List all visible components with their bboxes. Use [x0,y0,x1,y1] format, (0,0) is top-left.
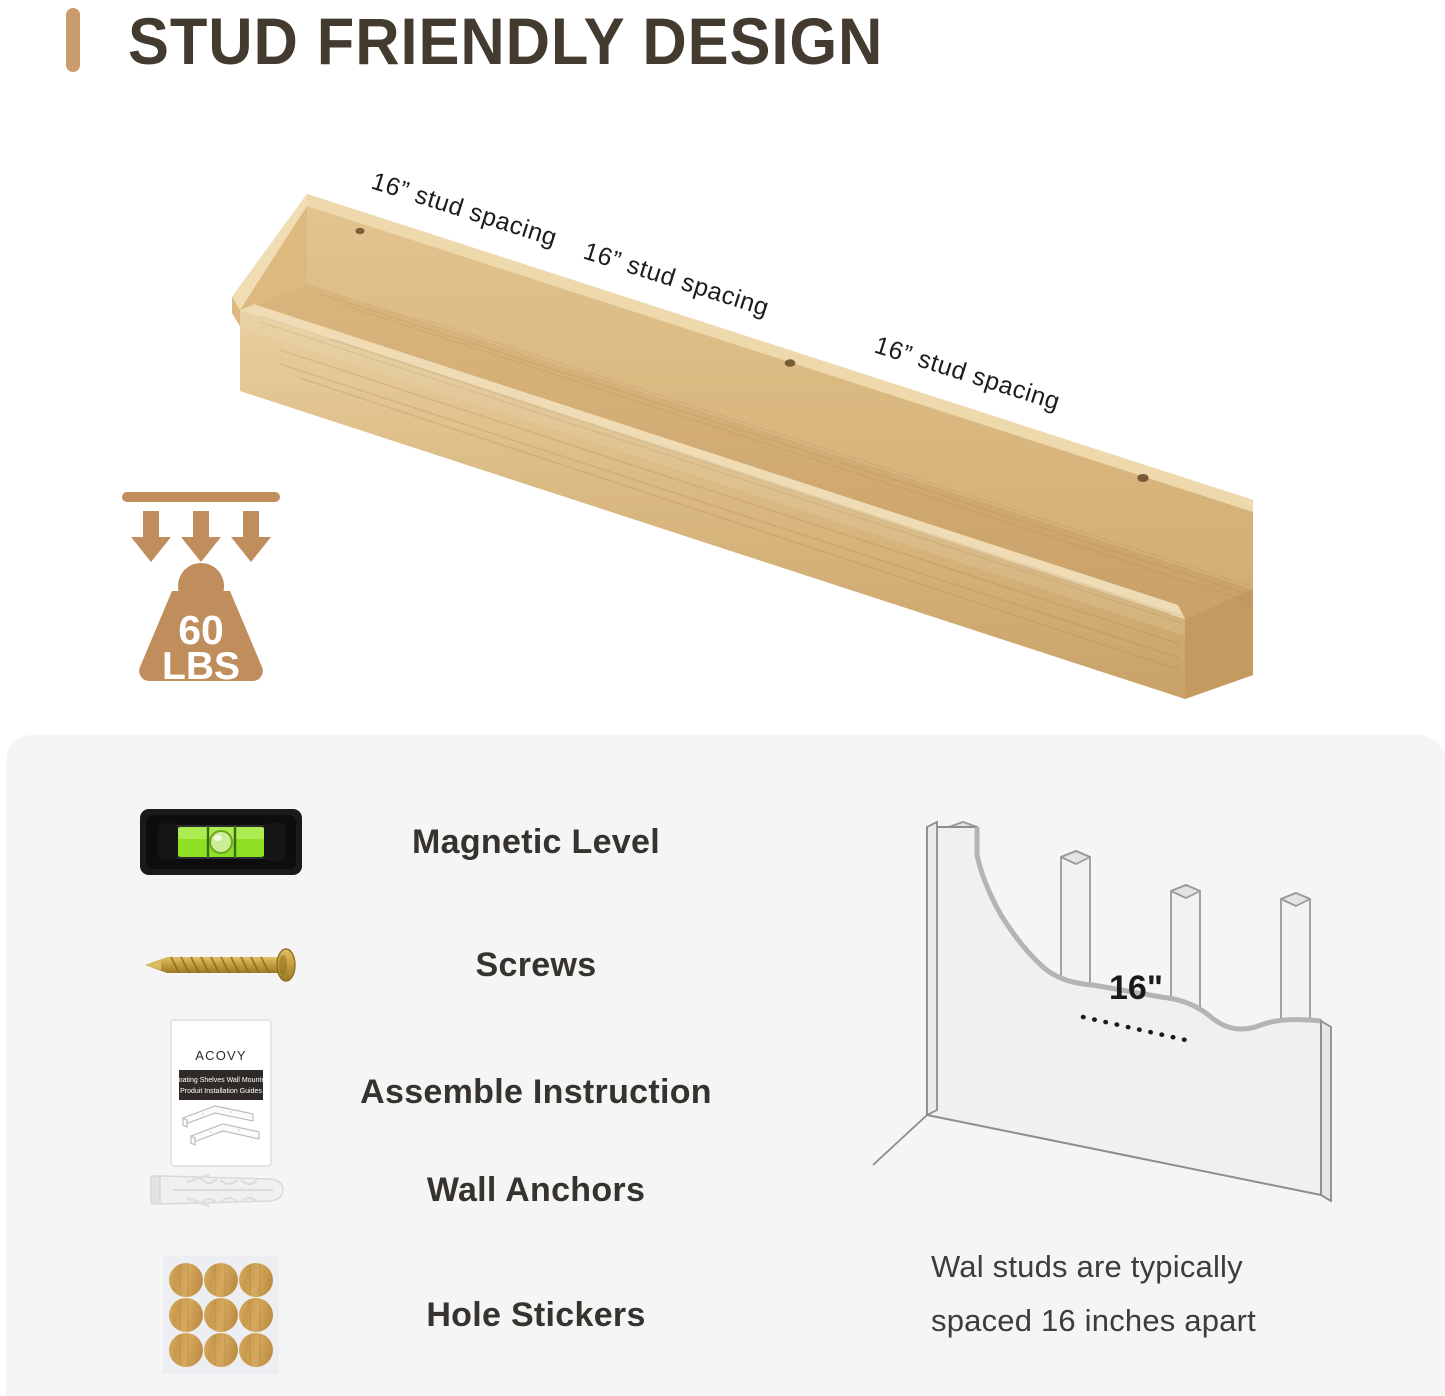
stud-caption-line-2: spaced 16 inches apart [931,1294,1401,1348]
booklet-line-2: Produit Installation Guides [180,1088,262,1095]
booklet-line-1: Floating Shelves Wall Mounted [173,1077,269,1084]
accessory-label: Hole Stickers [336,1245,736,1385]
accessory-list: Magnetic Level [6,735,766,1396]
infographic-page: STUD FRIENDLY DESIGN [0,0,1445,1396]
list-item: Screws [6,910,766,1020]
accessory-label: Wall Anchors [336,1135,736,1245]
stud-caption: Wal studs are typically spaced 16 inches… [931,1240,1401,1348]
accessory-label: Magnetic Level [336,787,736,897]
stud-spacing-label: 16" [1109,969,1163,1007]
booklet-brand: ACOVY [195,1048,247,1063]
bubble-level-icon [131,787,311,897]
hole-sticker-sheet-icon [131,1245,311,1385]
load-arrows-icon [131,511,271,562]
list-item: Magnetic Level [6,787,766,897]
weight-capacity-badge: 60 LBS [110,478,320,690]
wall-stud-svg: 16" [861,795,1361,1235]
stud-caption-line-1: Wal studs are typically [931,1240,1401,1294]
mounting-hole [1137,474,1148,482]
title-accent-bar [66,8,80,72]
drywall-panel [873,822,1331,1201]
screw-icon [131,910,311,1020]
page-header: STUD FRIENDLY DESIGN [0,0,1445,92]
page-title: STUD FRIENDLY DESIGN [128,0,883,84]
mounting-hole [355,228,364,234]
accessory-label: Screws [336,910,736,1020]
weight-unit: LBS [162,645,240,688]
wall-stud-diagram: 16" [861,795,1361,1235]
wall-anchor-icon [131,1135,311,1245]
list-item: Wall Anchors [6,1135,766,1245]
weight-badge-svg: 60 LBS [110,478,320,690]
list-item: Hole Stickers [6,1245,766,1385]
shelf-bar-icon [122,492,280,502]
mounting-hole [785,359,796,367]
accessories-panel: Magnetic Level [6,735,1445,1396]
shelf-body [232,194,1253,699]
